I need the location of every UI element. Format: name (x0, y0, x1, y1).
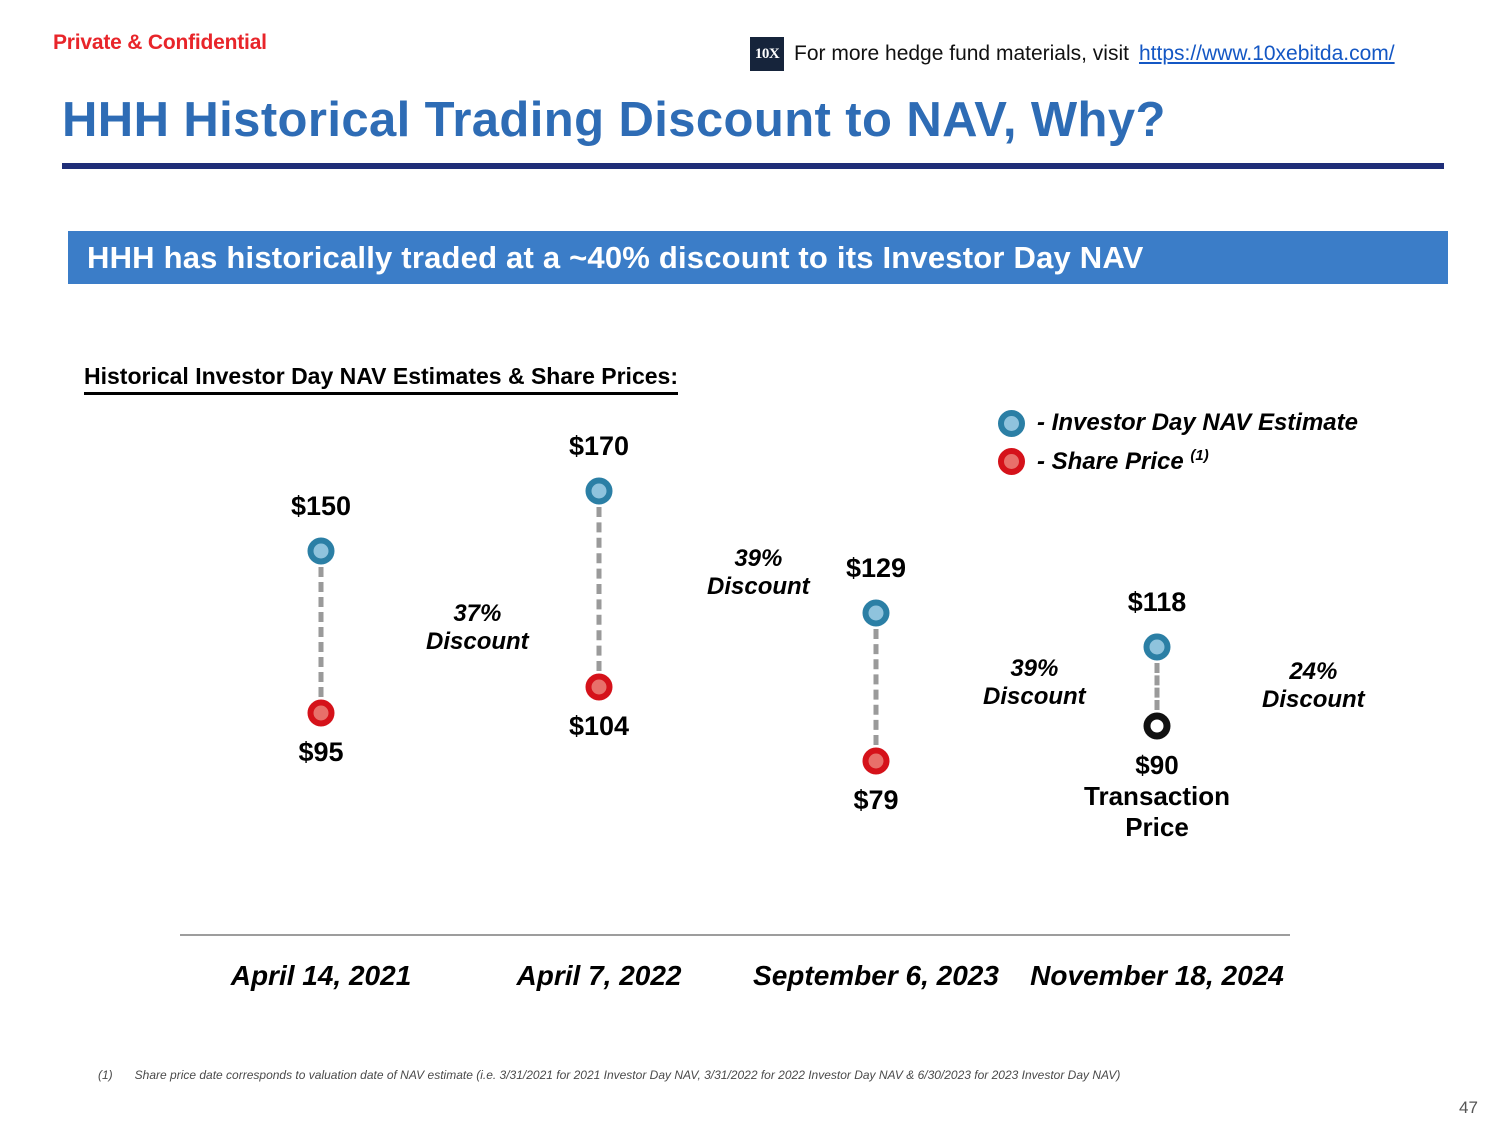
chart-heading: Historical Investor Day NAV Estimates & … (84, 363, 678, 395)
footnote-text: Share price date corresponds to valuatio… (135, 1068, 1121, 1082)
share-dot-icon (998, 448, 1025, 475)
footnote-ref: (1) (1190, 447, 1208, 464)
page-title: HHH Historical Trading Discount to NAV, … (62, 92, 1166, 148)
axis-date-label: September 6, 2023 (753, 960, 999, 992)
source-link[interactable]: https://www.10xebitda.com/ (1139, 42, 1395, 66)
confidential-label: Private & Confidential (53, 31, 267, 55)
nav-dot-icon (586, 478, 613, 505)
axis-baseline (180, 934, 1290, 936)
discount-percent: 24% (1262, 658, 1365, 686)
connector-line (1155, 663, 1160, 710)
footnote-marker: (1) (98, 1068, 113, 1082)
connector-line (597, 507, 602, 671)
discount-percent: 39% (707, 545, 810, 573)
nav-value-label: $150 (291, 491, 351, 522)
discount-annotation: 39%Discount (707, 545, 810, 602)
footnote: (1)Share price date corresponds to valua… (98, 1068, 1120, 1082)
share-price-dot-icon (586, 674, 613, 701)
discount-word: Discount (707, 573, 810, 601)
nav-value-label: $118 (1128, 587, 1187, 618)
share-price-dot-icon (308, 700, 335, 727)
source-attribution: 10X For more hedge fund materials, visit… (750, 37, 1395, 71)
discount-annotation: 39%Discount (983, 655, 1086, 712)
title-divider (62, 163, 1444, 169)
price-value-label: $104 (569, 711, 629, 742)
discount-word: Discount (1262, 686, 1365, 714)
axis-date-label: April 7, 2022 (517, 960, 682, 992)
transaction-price-caption: Price (1084, 812, 1230, 843)
discount-word: Discount (983, 683, 1086, 711)
transaction-price-caption: Transaction (1084, 781, 1230, 812)
nav-dot-icon (863, 600, 890, 627)
discount-percent: 37% (426, 600, 529, 628)
key-message-text: HHH has historically traded at a ~40% di… (68, 240, 1144, 276)
price-value-label: $95 (298, 737, 343, 768)
price-value-label: $90TransactionPrice (1084, 750, 1230, 844)
legend-label-share-price: - Share Price (1) (1037, 447, 1209, 476)
discount-annotation: 24%Discount (1262, 658, 1365, 715)
share-price-dot-icon (863, 748, 890, 775)
discount-word: Discount (426, 628, 529, 656)
nav-dot-icon (1144, 634, 1171, 661)
legend-item-nav: - Investor Day NAV Estimate (998, 404, 1358, 442)
connector-line (874, 629, 879, 745)
nav-value-label: $129 (846, 553, 906, 584)
axis-date-label: April 14, 2021 (231, 960, 412, 992)
transaction-price-dot-icon (1144, 713, 1171, 740)
tenx-logo-icon: 10X (750, 37, 784, 71)
chart-legend: - Investor Day NAV Estimate - Share Pric… (998, 404, 1358, 480)
page-number: 47 (1459, 1098, 1478, 1118)
legend-item-share-price: - Share Price (1) (998, 442, 1358, 480)
axis-date-label: November 18, 2024 (1030, 960, 1284, 992)
connector-line (319, 567, 324, 697)
nav-value-label: $170 (569, 431, 629, 462)
discount-annotation: 37%Discount (426, 600, 529, 657)
nav-dot-icon (308, 538, 335, 565)
key-message-banner: HHH has historically traded at a ~40% di… (68, 231, 1448, 284)
price-value-label: $79 (853, 785, 898, 816)
source-text: For more hedge fund materials, visit (794, 42, 1129, 66)
nav-dot-icon (998, 410, 1025, 437)
discount-percent: 39% (983, 655, 1086, 683)
transaction-price-label: $90 (1084, 750, 1230, 781)
legend-label-nav: - Investor Day NAV Estimate (1037, 409, 1358, 437)
